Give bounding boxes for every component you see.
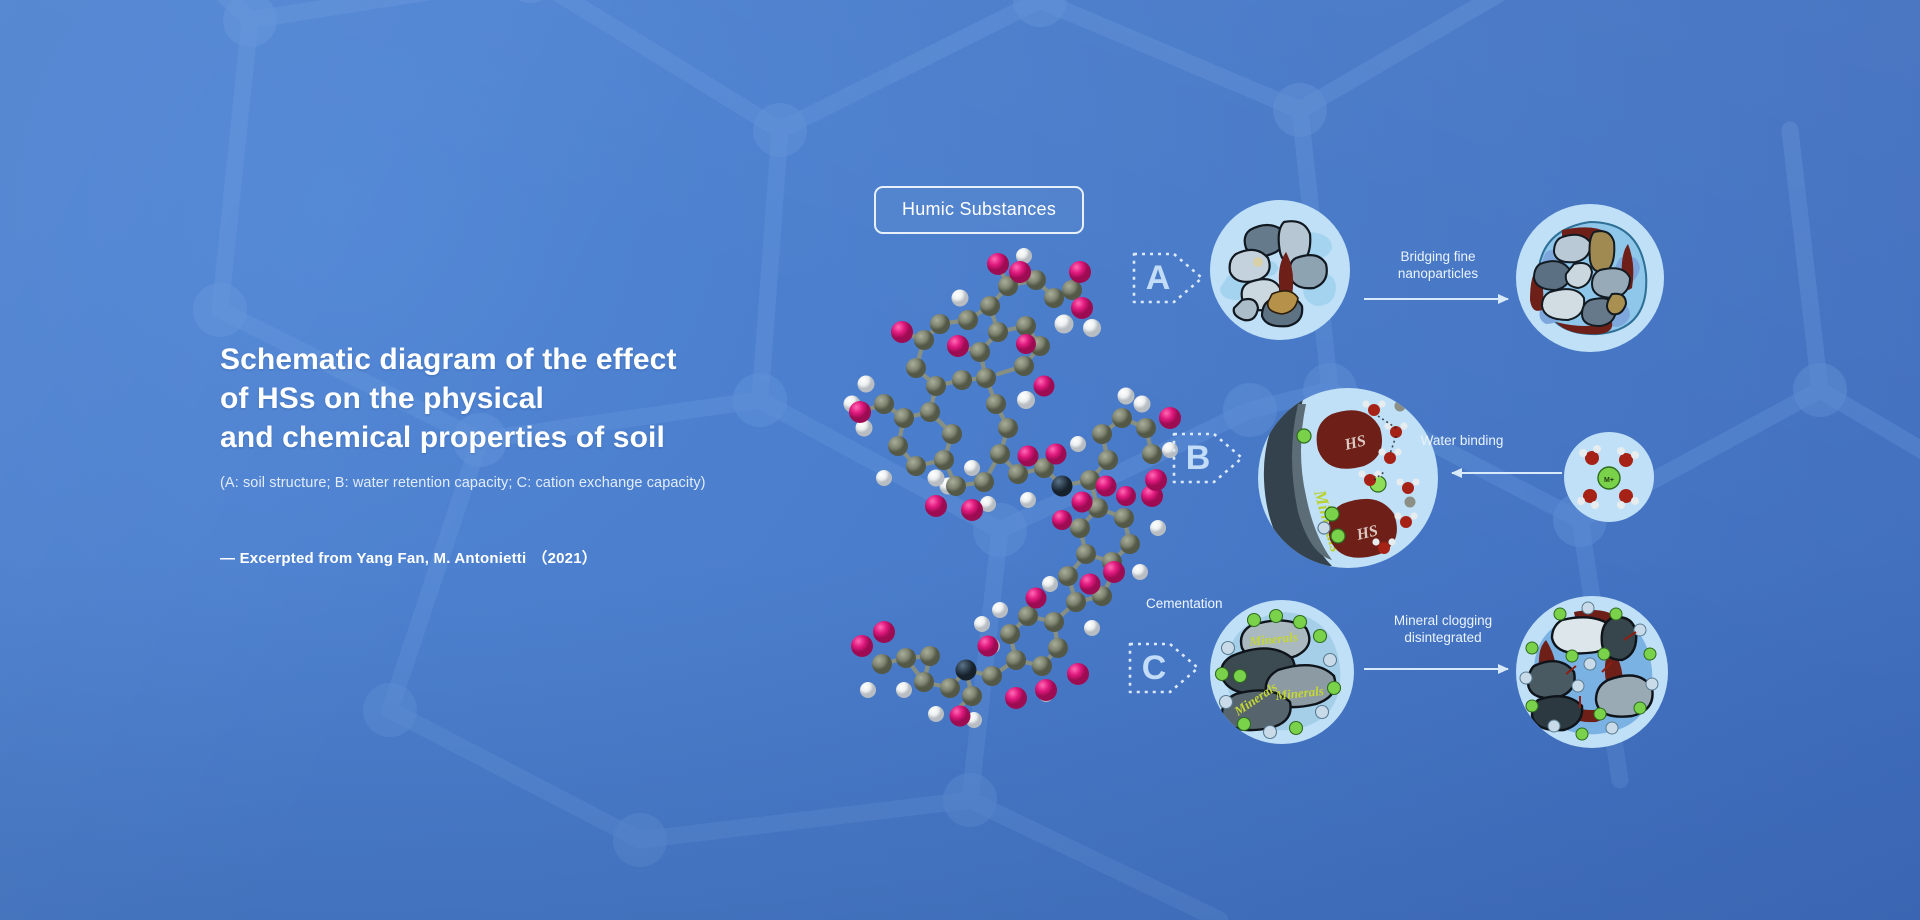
flow-arrow-b-from-hydrated-cation	[1452, 472, 1562, 474]
page-title: Schematic diagram of the effect of HSs o…	[220, 340, 860, 457]
bridged-soil-aggregate-bubble	[1516, 204, 1664, 352]
flow-arrow-c-to-result	[1364, 668, 1508, 670]
source-attribution: — Excerpted from Yang Fan, M. Antonietti…	[220, 547, 860, 568]
subtitle-legend: (A: soil structure; B: water retention c…	[220, 473, 860, 493]
page-title-line-2: of HSs on the physical	[220, 379, 860, 418]
step-marker-b: B	[1168, 420, 1250, 496]
flow-arrow-a-to-result	[1364, 298, 1508, 300]
humic-substances-badge: Humic Substances	[874, 186, 1084, 234]
title-block: Schematic diagram of the effect of HSs o…	[220, 340, 860, 568]
step-marker-a: A	[1128, 240, 1210, 316]
humic-substances-badge-label: Humic Substances	[902, 199, 1056, 219]
step-marker-c: C	[1124, 630, 1206, 706]
page-title-line-1: Schematic diagram of the effect	[220, 340, 860, 379]
disintegrated-mineral-bubble	[1516, 596, 1668, 748]
attribution-text: — Excerpted from Yang Fan, M. Antonietti	[220, 550, 526, 567]
page-title-line-3: and chemical properties of soil	[220, 418, 860, 457]
flow-label-water-binding: Water binding	[1392, 432, 1532, 449]
hydrated-cation-bubble: M+	[1564, 432, 1654, 522]
cation-label: M+	[1604, 477, 1614, 484]
poster-canvas: Schematic diagram of the effect of HSs o…	[0, 0, 1920, 920]
step-letter-c: C	[1124, 630, 1184, 706]
flow-label-bridging: Bridging fine nanoparticles	[1358, 248, 1518, 283]
cementation-label: Cementation	[1146, 596, 1223, 611]
attribution-year: （2021）	[532, 550, 597, 567]
step-letter-b: B	[1168, 420, 1228, 496]
loose-soil-aggregate-bubble	[1210, 200, 1350, 340]
mineral-clogged-aggregate-bubble: Minerals Minerals Minerals	[1210, 600, 1354, 744]
flow-label-mineral-clogging: Mineral clogging disintegrated	[1358, 612, 1528, 647]
hs-mineral-water-bubble: Minerals HS HS	[1258, 388, 1438, 568]
step-letter-a: A	[1128, 240, 1188, 316]
